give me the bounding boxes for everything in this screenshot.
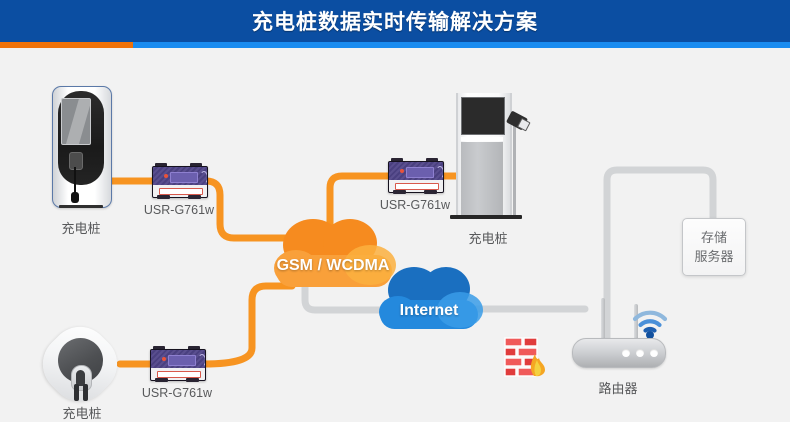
- module-label-strip: [395, 183, 439, 190]
- router-led-3: [650, 349, 658, 357]
- internet-cloud: Internet: [368, 258, 490, 336]
- charger-base: [59, 205, 103, 208]
- kiosk-screen: [461, 97, 505, 135]
- module-bottom-left-caption: USR-G761w: [132, 386, 222, 400]
- usr-module-center-top: [388, 158, 442, 194]
- module-foot-left: [157, 195, 170, 199]
- charger-plug: [71, 192, 79, 203]
- module-foot-right: [188, 195, 201, 199]
- router-led-1: [622, 349, 630, 357]
- link-module-to-gsm-lower: [204, 286, 292, 364]
- kiosk-lower-panel: [461, 142, 503, 215]
- charger-prong-left: [74, 384, 79, 401]
- module-foot-right: [186, 378, 199, 382]
- module-foot-left: [155, 378, 168, 382]
- kiosk-base: [450, 215, 522, 219]
- kiosk-divider: [461, 137, 503, 141]
- firewall-icon: [504, 336, 552, 378]
- usr-module-top-left: [152, 163, 206, 199]
- storage-server-line2: 服务器: [694, 247, 733, 266]
- router-device: [572, 338, 664, 366]
- storage-server-line1: 存储: [701, 228, 727, 247]
- disc-charging-pile: [45, 329, 123, 404]
- kiosk-gun-post: [513, 121, 516, 216]
- diagram-canvas: 充电桩数据实时传输解决方案: [0, 0, 790, 416]
- module-chip: [170, 172, 198, 183]
- wifi-icon: [632, 310, 668, 340]
- module-foot-right: [424, 190, 437, 194]
- kiosk-charger-caption: 充电桩: [440, 228, 536, 247]
- topology-area: GSM / WCDMA Internet: [0, 48, 790, 416]
- module-chip: [168, 355, 196, 366]
- module-label-strip: [159, 188, 203, 195]
- router-caption: 路由器: [568, 378, 668, 397]
- wall-charger-caption: 充电桩: [32, 218, 130, 237]
- wall-charging-pile: [52, 86, 110, 211]
- module-led: [400, 169, 404, 173]
- charger-screen: [61, 98, 91, 145]
- router-led-2: [636, 349, 644, 357]
- module-antenna-icon: [200, 171, 208, 184]
- charger-socket: [69, 152, 83, 170]
- charger-prong-right: [83, 384, 88, 401]
- module-body: [388, 161, 444, 193]
- module-body: [150, 349, 206, 381]
- storage-server-box: 存储 服务器: [682, 218, 746, 276]
- module-label-strip: [157, 371, 201, 378]
- module-antenna-icon: [436, 166, 444, 179]
- module-chip: [406, 167, 434, 178]
- module-led: [162, 357, 166, 361]
- module-foot-left: [393, 190, 406, 194]
- module-body: [152, 166, 208, 198]
- page-title: 充电桩数据实时传输解决方案: [0, 0, 790, 42]
- disc-charger-caption: 充电桩: [32, 403, 132, 422]
- module-led: [164, 174, 168, 178]
- usr-module-bottom-left: [150, 346, 204, 382]
- header-bar: 充电桩数据实时传输解决方案: [0, 0, 790, 42]
- module-top-left-caption: USR-G761w: [134, 203, 224, 217]
- charger-cable: [74, 167, 76, 195]
- module-antenna-icon: [198, 354, 206, 367]
- kiosk-charging-pile: [450, 93, 530, 223]
- module-center-top-caption: USR-G761w: [370, 198, 460, 212]
